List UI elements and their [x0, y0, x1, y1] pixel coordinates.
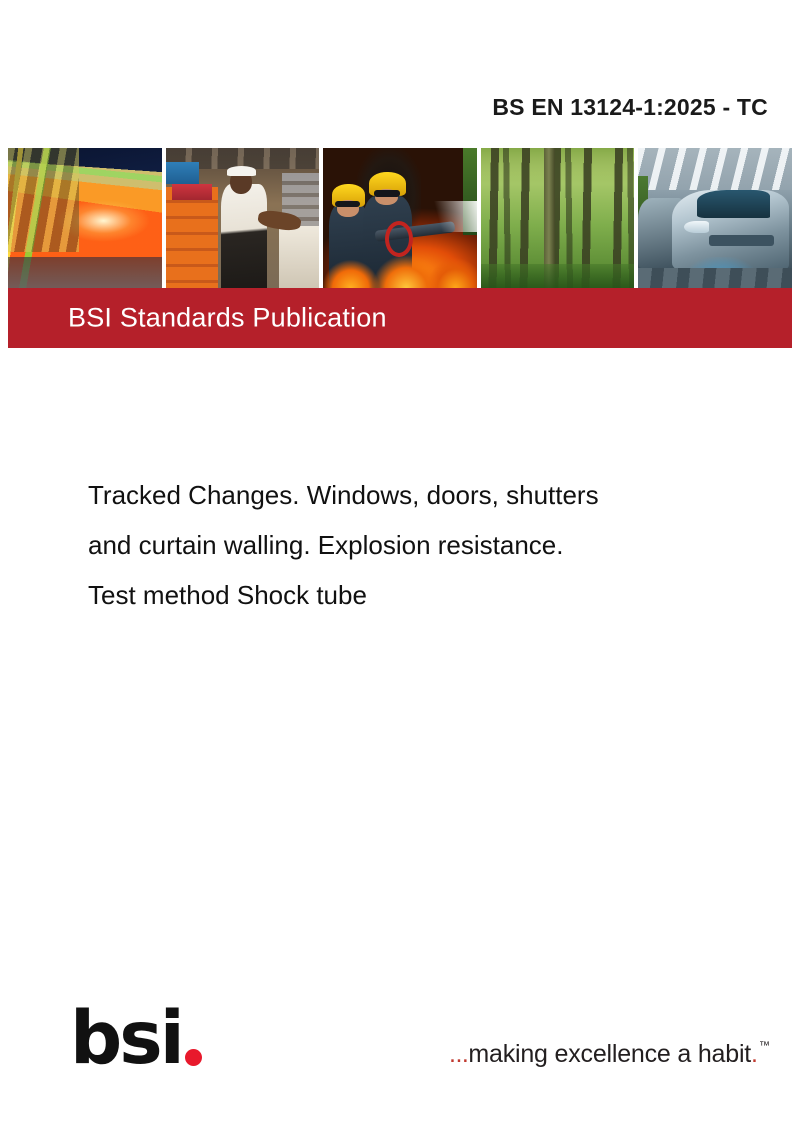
- bsi-logo-dot-icon: [185, 1049, 202, 1066]
- tagline-text: making excellence a habit: [468, 1040, 751, 1069]
- cover-photo-strip: [8, 148, 792, 288]
- building-facade-shape: [8, 148, 79, 252]
- bsi-tagline: ... making excellence a habit . ™: [449, 1040, 770, 1069]
- title-line-3: Test method Shock tube: [88, 570, 748, 620]
- car-windshield-shape: [697, 190, 771, 218]
- bsi-logo-wordmark: bsi: [70, 1005, 182, 1072]
- photo-panel-firefighters-hose-flames: [323, 148, 477, 288]
- car-headlight-shape: [684, 221, 709, 234]
- photo-panel-warehouse-worker-crates: [166, 148, 320, 288]
- firefighter-two-goggles-shape: [374, 190, 400, 197]
- flames-shape: [323, 232, 477, 288]
- trademark-icon: ™: [759, 1040, 770, 1052]
- factory-ceiling-lights-shape: [638, 148, 792, 190]
- orange-crates-shape: [166, 187, 218, 288]
- bsi-standards-publication-banner: BSI Standards Publication: [8, 288, 792, 348]
- red-crate-shape: [172, 184, 212, 199]
- photo-panel-car-assembly-line: [638, 148, 792, 288]
- standard-number: BS EN 13124-1:2025 - TC: [492, 94, 768, 121]
- water-spray-shape: [425, 201, 477, 232]
- photo-panel-pine-forest: [481, 148, 635, 288]
- photo-panel-light-trails-night-traffic: [8, 148, 162, 288]
- worker-cap-shape: [227, 166, 256, 176]
- worker-torso-shape: [221, 184, 267, 288]
- firefighter-one-goggles-shape: [335, 201, 360, 207]
- page-title: Tracked Changes. Windows, doors, shutter…: [88, 470, 748, 620]
- factory-floor-shape: [638, 268, 792, 288]
- forest-floor-shape: [481, 264, 635, 288]
- tagline-period: .: [751, 1040, 758, 1069]
- bsi-logo: bsi: [70, 1000, 202, 1072]
- cardboard-box-shape: [279, 226, 319, 288]
- tagline-leading-ellipsis: ...: [449, 1040, 468, 1069]
- banner-label: BSI Standards Publication: [68, 303, 387, 334]
- blue-crate-shape: [166, 162, 200, 184]
- title-line-2: and curtain walling. Explosion resistanc…: [88, 520, 748, 570]
- title-line-1: Tracked Changes. Windows, doors, shutter…: [88, 470, 748, 520]
- car-grille-shape: [709, 235, 774, 246]
